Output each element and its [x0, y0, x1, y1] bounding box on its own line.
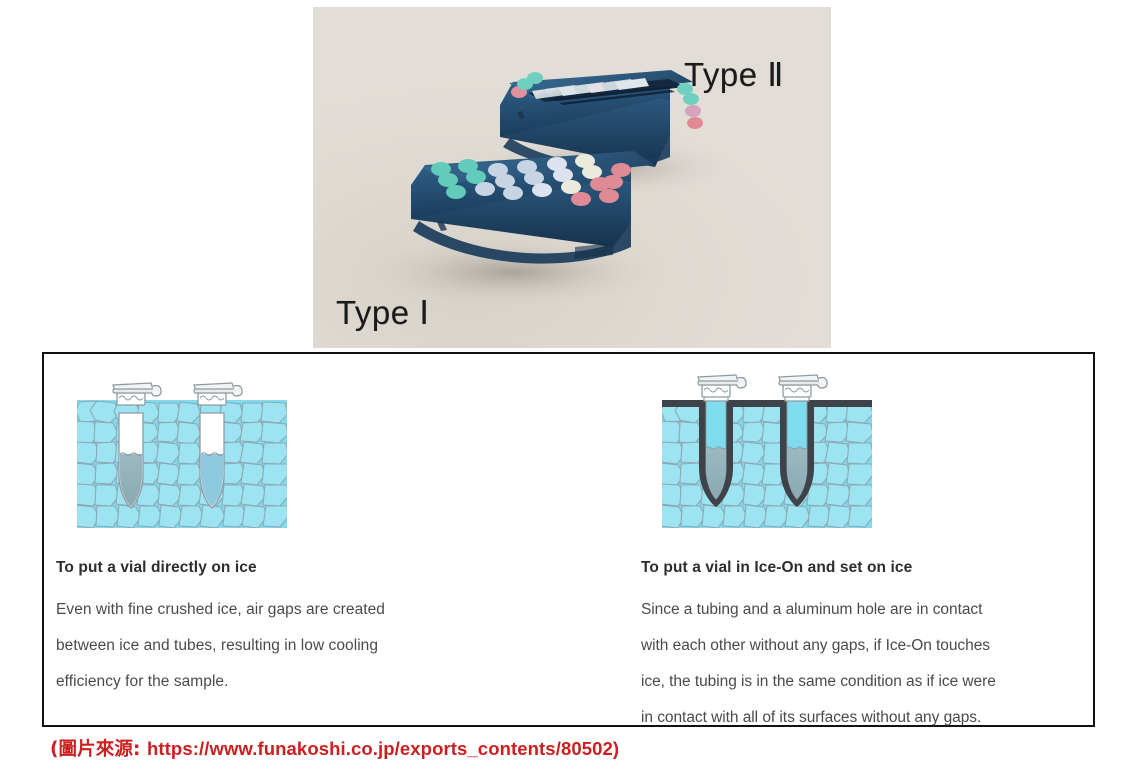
comparison-box: To put a vial directly on ice Even with … [42, 352, 1095, 727]
right-body-line-2: with each other without any gaps, if Ice… [641, 628, 1073, 664]
right-heading: To put a vial in Ice-On and set on ice [641, 559, 1073, 578]
left-heading: To put a vial directly on ice [56, 559, 488, 578]
left-body-line-1: Even with fine crushed ice, air gaps are… [56, 592, 488, 628]
right-body-line-1: Since a tubing and a aluminum hole are i… [641, 592, 1073, 628]
left-text-column: To put a vial directly on ice Even with … [56, 559, 488, 700]
source-url[interactable]: https://www.funakoshi.co.jp/exports_cont… [147, 738, 613, 759]
source-suffix: ) [613, 738, 619, 759]
vial-in-ice-on-block-illustration [658, 368, 876, 528]
product-photo: Type Ⅱ Type Ⅰ [313, 7, 831, 348]
source-caption: (圖片來源: https://www.funakoshi.co.jp/expor… [50, 735, 619, 761]
source-prefix: (圖片來源: [50, 739, 147, 760]
left-body-line-2: between ice and tubes, resulting in low … [56, 628, 488, 664]
left-body-line-3: efficiency for the sample. [56, 664, 488, 700]
right-body-line-4: in contact with all of its surfaces with… [641, 700, 1073, 736]
type-two-label: Type Ⅱ [684, 55, 784, 94]
right-text-column: To put a vial in Ice-On and set on ice S… [641, 559, 1073, 736]
right-body-line-3: ice, the tubing is in the same condition… [641, 664, 1073, 700]
vial-directly-on-ice-illustration [73, 368, 291, 528]
type-one-label: Type Ⅰ [336, 293, 429, 332]
